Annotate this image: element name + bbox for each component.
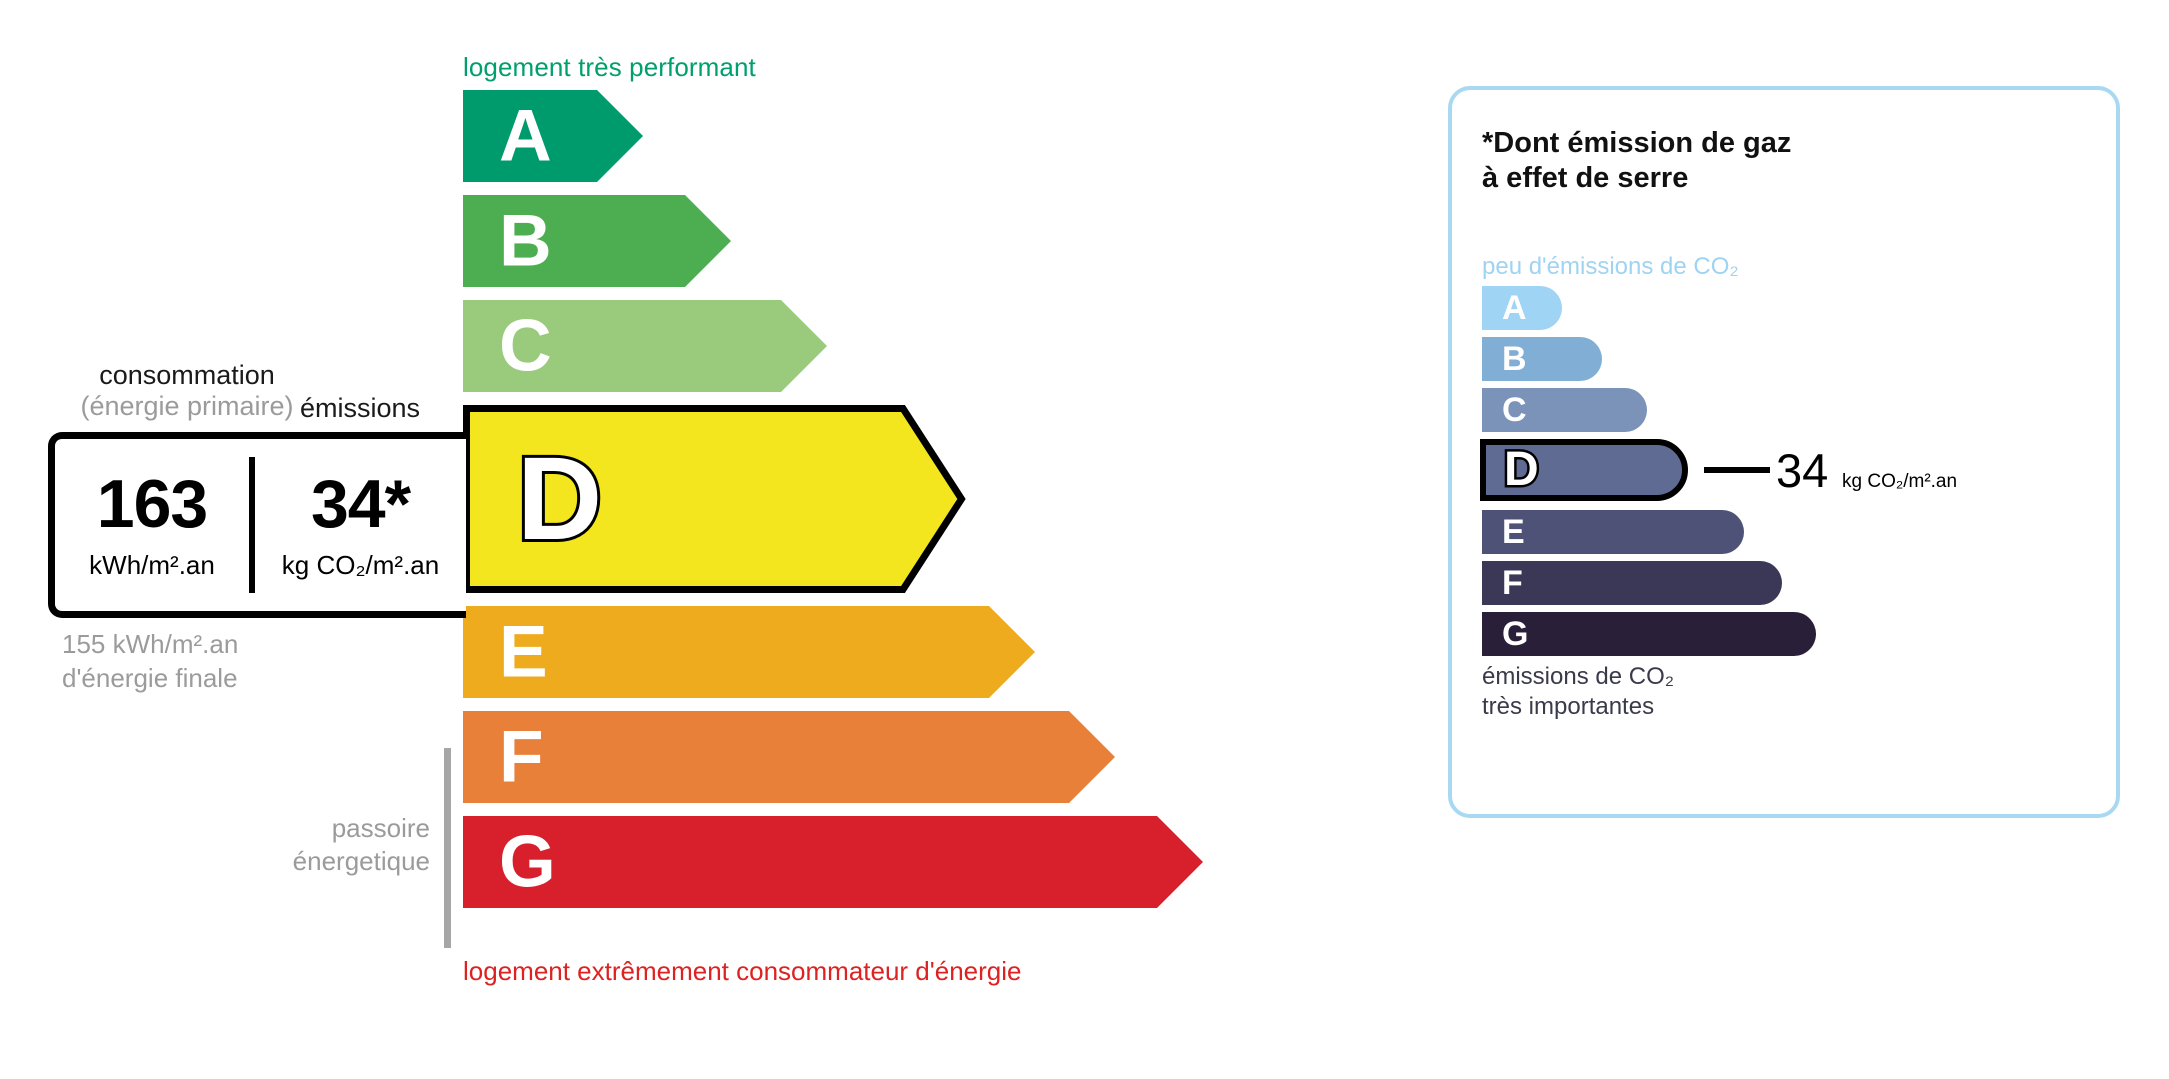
co2-class-letter-g: G: [1502, 617, 1528, 651]
energy-class-letter-e: E: [499, 616, 548, 689]
energy-bottom-caption: logement extrêmement consommateur d'éner…: [463, 956, 1021, 987]
energy-class-letter-a: A: [499, 100, 552, 173]
co2-class-row-d: D34kg CO₂/m².an: [1482, 439, 2102, 501]
final-energy-note: 155 kWh/m².and'énergie finale: [62, 628, 238, 696]
energy-arrow-b: B: [463, 195, 1263, 287]
co2-panel: *Dont émission de gazà effet de serre pe…: [1448, 86, 2120, 818]
energy-scale-panel: logement très performant ABCDEFG logemen…: [0, 0, 1400, 1079]
energy-arrow-g: G: [463, 816, 1263, 908]
emission-cell: 34* kg CO₂/m².an: [255, 439, 466, 611]
co2-bar-b: [1482, 337, 1602, 381]
energy-arrow-d: D: [463, 405, 1263, 593]
co2-class-letter-f: F: [1502, 566, 1523, 600]
energy-class-letter-f: F: [499, 721, 544, 794]
emission-value: 34*: [311, 470, 410, 538]
co2-bottom-caption: émissions de CO₂très importantes: [1482, 662, 1674, 722]
energy-class-letter-g: G: [499, 826, 556, 899]
consumption-label-main: consommation: [99, 360, 275, 390]
co2-class-rows: ABCD34kg CO₂/m².anEFG: [1482, 286, 2102, 663]
energy-class-row-d: D: [463, 405, 1263, 593]
energy-class-letter-c: C: [499, 310, 552, 383]
passoire-marker-bar: [444, 748, 451, 948]
co2-panel-title: *Dont émission de gazà effet de serre: [1482, 126, 1791, 196]
emission-unit: kg CO₂/m².an: [282, 550, 439, 581]
consumption-label-sub: (énergie primaire): [62, 391, 312, 422]
energy-arrow-f: F: [463, 711, 1263, 803]
co2-value-unit: kg CO₂/m².an: [1842, 471, 1957, 493]
passoire-line-1: passoire: [180, 812, 430, 845]
dpe-diagram: logement très performant ABCDEFG logemen…: [0, 0, 2169, 1079]
co2-class-letter-e: E: [1502, 515, 1525, 549]
co2-class-letter-c: C: [1502, 393, 1527, 427]
co2-class-letter-a: A: [1502, 291, 1527, 325]
energy-arrow-e: E: [463, 606, 1263, 698]
co2-bar-g: [1482, 612, 1816, 656]
energy-class-row-a: A: [463, 90, 1263, 182]
co2-top-caption: peu d'émissions de CO₂: [1482, 253, 1739, 281]
energy-class-row-c: C: [463, 300, 1263, 392]
energy-arrow-c: C: [463, 300, 1263, 392]
consumption-cell: 163 kWh/m².an: [55, 439, 249, 611]
co2-class-row-c: C: [1482, 388, 2102, 432]
energy-class-row-f: F: [463, 711, 1263, 803]
passoire-energetique-label: passoire énergetique: [180, 812, 430, 877]
passoire-line-2: énergetique: [180, 845, 430, 878]
energy-class-row-g: G: [463, 816, 1263, 908]
energy-class-letter-d: D: [517, 440, 602, 558]
co2-value: 34: [1776, 447, 1828, 494]
energy-class-row-b: B: [463, 195, 1263, 287]
co2-class-row-a: A: [1482, 286, 2102, 330]
co2-class-letter-d: D: [1504, 446, 1539, 494]
co2-leader-line: [1704, 467, 1770, 473]
consumption-label: consommation (énergie primaire): [62, 360, 312, 422]
energy-arrow-a: A: [463, 90, 1263, 182]
co2-class-row-b: B: [1482, 337, 2102, 381]
co2-class-row-g: G: [1482, 612, 2102, 656]
energy-class-row-e: E: [463, 606, 1263, 698]
co2-bar-f: [1482, 561, 1782, 605]
co2-class-letter-b: B: [1502, 342, 1527, 376]
consumption-value: 163: [97, 470, 207, 538]
energy-class-rows: ABCDEFG: [463, 90, 1263, 921]
emissions-label: émissions: [300, 393, 420, 424]
consumption-value-box: 163 kWh/m².an 34* kg CO₂/m².an: [48, 432, 466, 618]
consumption-unit: kWh/m².an: [89, 550, 215, 581]
energy-class-letter-b: B: [499, 205, 552, 278]
energy-top-caption: logement très performant: [463, 52, 756, 83]
co2-class-row-f: F: [1482, 561, 2102, 605]
co2-class-row-e: E: [1482, 510, 2102, 554]
